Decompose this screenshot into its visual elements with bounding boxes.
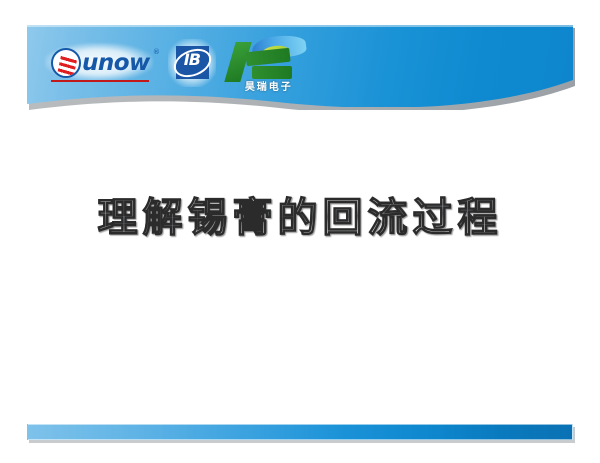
haorui-electronics-logo: 昊瑞电子	[222, 34, 308, 92]
unow-logo: unow ®	[49, 42, 162, 84]
header-banner-highlight	[27, 25, 573, 27]
haorui-chinese-name: 昊瑞电子	[226, 78, 312, 93]
ib-logo-letters: IB	[172, 52, 212, 68]
unow-underline	[51, 80, 149, 82]
unow-wordmark: unow	[82, 52, 152, 75]
presentation-slide: unow ® IB 昊瑞电子 理解锡膏的回流过程	[0, 0, 600, 463]
logo-row: unow ® IB 昊瑞电子	[49, 33, 308, 93]
registered-trademark-icon: ®	[153, 48, 160, 56]
footer-bar	[27, 424, 573, 440]
header-banner: unow ® IB 昊瑞电子	[27, 25, 573, 107]
slide-title: 理解锡膏的回流过程	[0, 196, 600, 240]
unow-flame-icon	[51, 48, 81, 78]
unow-flame-strokes	[56, 52, 79, 78]
ib-logo: IB	[172, 43, 212, 83]
footer-bar-fill	[27, 424, 573, 440]
